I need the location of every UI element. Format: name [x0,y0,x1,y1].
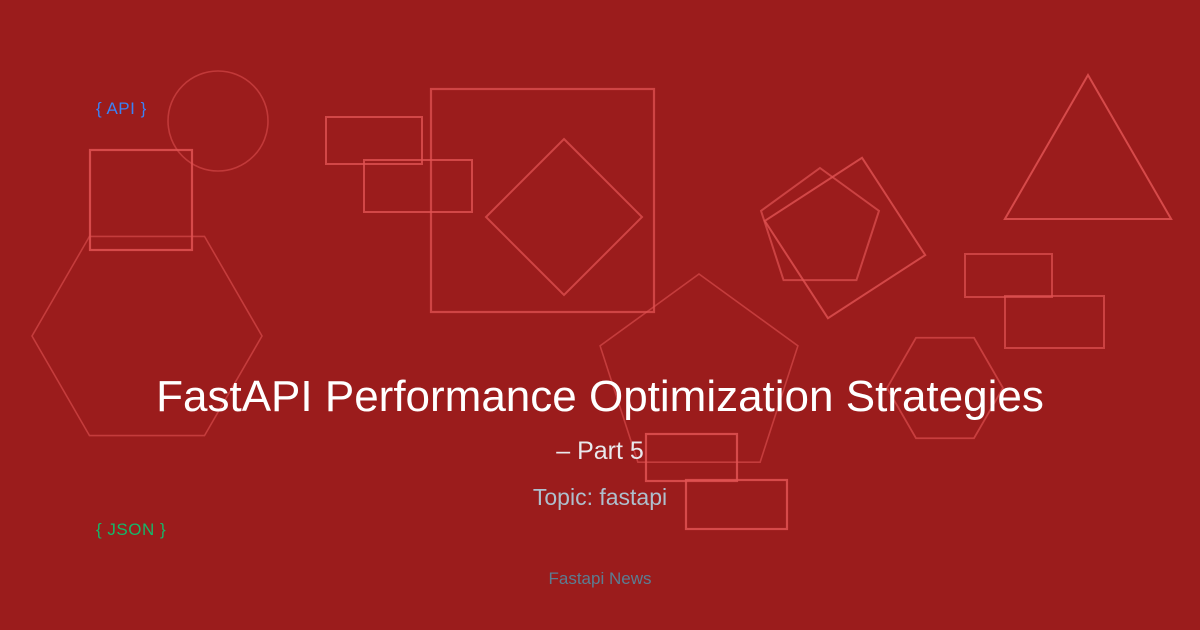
page-title: FastAPI Performance Optimization Strateg… [0,371,1200,423]
social-card: { API } { JSON } FastAPI Performance Opt… [0,0,1200,630]
part-subtitle: – Part 5 [0,436,1200,466]
content-block: FastAPI Performance Optimization Strateg… [0,0,1200,630]
topic-label: Topic: fastapi [0,483,1200,511]
brand-footer: Fastapi News [0,568,1200,590]
